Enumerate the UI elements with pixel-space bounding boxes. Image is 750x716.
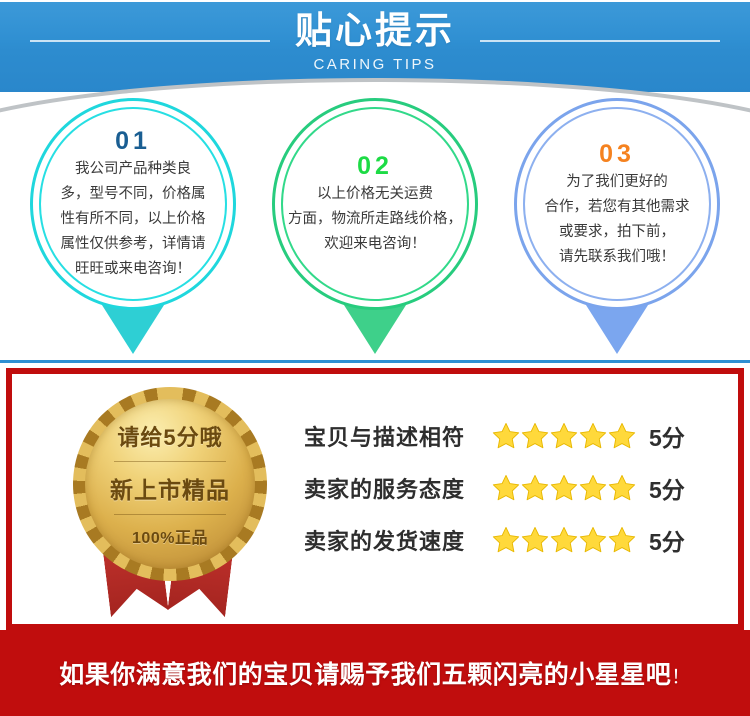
star-icon [519,472,551,504]
bubble-text-line: 以上价格无关运费 [288,182,462,207]
star-rating [490,472,635,504]
star-icon [490,420,522,452]
star-icon [606,524,638,556]
bubble-content: 01 我公司产品种类良 多，型号不同，价格属 性有所不同，以上价格 属性仅供参考… [36,114,230,294]
bubble-text-line: 多，型号不同，价格属 [61,182,206,207]
medal-divider [114,514,226,515]
star-icon [577,472,609,504]
medal-line-3: 100%正品 [132,524,208,548]
rating-score: 5分 [649,523,685,557]
page-title: 贴心提示 [0,8,750,54]
tip-bubble-03: 03 为了我们更好的 合作，若您有其他需求 或要求，拍下前， 请先联系我们哦！ [502,96,732,358]
star-icon [606,420,638,452]
star-icon [519,420,551,452]
bubble-text-line: 或要求，拍下前， [545,220,690,245]
tips-row: 01 我公司产品种类良 多，型号不同，价格属 性有所不同，以上价格 属性仅供参考… [0,96,750,358]
rating-score: 5分 [649,471,685,505]
medal-divider [114,461,226,462]
star-icon [577,420,609,452]
header-top-rule [0,0,750,2]
rating-label: 宝贝与描述相符 [304,420,482,452]
bubble-text-line: 请先联系我们哦！ [545,245,690,270]
rating-row: 宝贝与描述相符 5分 [304,410,724,462]
medal-line-1: 请给5分哦 [117,420,222,452]
rating-label: 卖家的发货速度 [304,524,482,556]
star-icon [548,420,580,452]
bubble-text-line: 我公司产品种类良 [61,157,206,182]
section-divider [0,360,750,363]
bubble-text-line: 属性仅供参考，详情请 [61,232,206,257]
star-icon [519,524,551,556]
bubble-text-line: 合作，若您有其他需求 [545,195,690,220]
rating-row: 卖家的发货速度 5分 [304,514,724,566]
footer-message: 如果你满意我们的宝贝请赐予我们五颗闪亮的小星星吧！ [59,655,691,691]
star-icon [490,524,522,556]
gold-medal-badge: 请给5分哦 新上市精品 100%正品 [68,390,272,616]
rating-rows: 宝贝与描述相符 5分 卖家的服务态度 [304,410,724,566]
promo-page: 贴心提示 CARING TIPS 01 我公司产品种类良 多，型号不同，价格属 … [0,0,750,716]
star-icon [548,472,580,504]
footer-message-punctuation: ！ [671,667,691,688]
bubble-number: 02 [357,151,393,181]
medal-line-2: 新上市精品 [110,471,230,505]
page-subtitle: CARING TIPS [0,55,750,75]
tip-bubble-01: 01 我公司产品种类良 多，型号不同，价格属 性有所不同，以上价格 属性仅供参考… [18,96,248,358]
bubble-text: 我公司产品种类良 多，型号不同，价格属 性有所不同，以上价格 属性仅供参考，详情… [59,157,208,282]
tip-bubble-02: 02 以上价格无关运费 方面，物流所走路线价格， 欢迎来电咨询！ [260,96,490,358]
bubble-text: 为了我们更好的 合作，若您有其他需求 或要求，拍下前， 请先联系我们哦！ [543,170,692,270]
medal-face: 请给5分哦 新上市精品 100%正品 [85,399,255,569]
bubble-text-line: 欢迎来电咨询！ [288,232,462,257]
bubble-text-line: 方面，物流所走路线价格， [288,207,462,232]
rating-row: 卖家的服务态度 5分 [304,462,724,514]
bubble-content: 02 以上价格无关运费 方面，物流所走路线价格， 欢迎来电咨询！ [278,114,472,294]
bubble-text-line: 性有所不同，以上价格 [61,207,206,232]
bubble-text-line: 旺旺或来电咨询！ [61,257,206,282]
review-rating-box: 请给5分哦 新上市精品 100%正品 宝贝与描述相符 5分 [6,368,744,630]
star-icon [606,472,638,504]
footer-message-text: 如果你满意我们的宝贝请赐予我们五颗闪亮的小星星吧 [59,661,671,689]
bubble-content: 03 为了我们更好的 合作，若您有其他需求 或要求，拍下前， 请先联系我们哦！ [520,114,714,294]
rating-score: 5分 [649,419,685,453]
bubble-number: 01 [115,126,151,156]
footer-banner: 如果你满意我们的宝贝请赐予我们五颗闪亮的小星星吧！ [0,630,750,716]
rating-label: 卖家的服务态度 [304,472,482,504]
star-icon [490,472,522,504]
star-rating [490,420,635,452]
star-icon [577,524,609,556]
bubble-number: 03 [599,139,635,169]
star-icon [548,524,580,556]
bubble-text: 以上价格无关运费 方面，物流所走路线价格， 欢迎来电咨询！ [286,182,464,257]
bubble-text-line: 为了我们更好的 [545,170,690,195]
star-rating [490,524,635,556]
